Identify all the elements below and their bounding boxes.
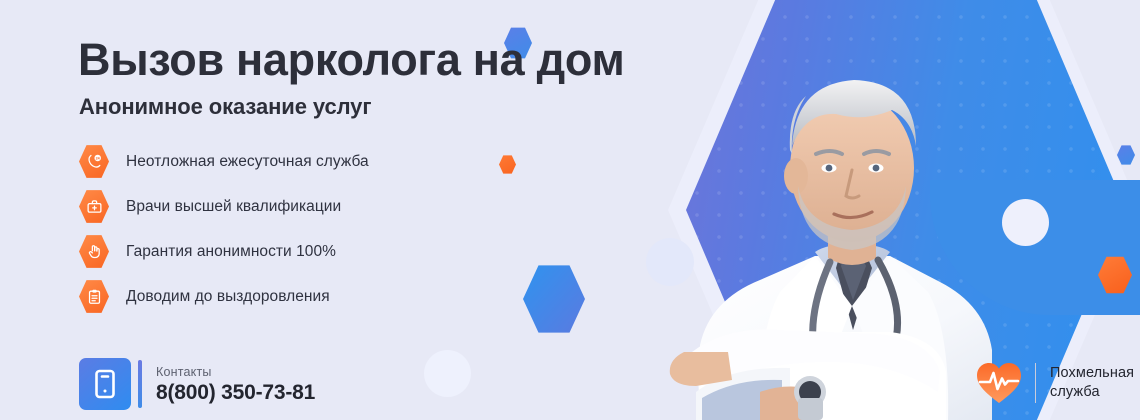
logo-text-line1: Похмельная bbox=[1050, 364, 1134, 383]
promo-banner: Вызов нарколога на дом Анонимное оказани… bbox=[0, 0, 1140, 420]
medical-bag-icon bbox=[79, 190, 109, 224]
contact-divider bbox=[138, 360, 142, 408]
list-item: Врачи высшей квалификации bbox=[79, 185, 369, 228]
list-item: Гарантия анонимности 100% bbox=[79, 230, 369, 273]
feature-list: 24 Неотложная ежесуточная служба Врачи в… bbox=[79, 140, 369, 320]
page-subtitle: Анонимное оказание услуг bbox=[79, 94, 371, 120]
heart-pulse-icon bbox=[975, 360, 1023, 405]
list-item-label: Доводим до выздоровления bbox=[126, 288, 330, 306]
contact-label: Контакты bbox=[156, 364, 315, 380]
contact-block: Контакты 8(800) 350-73-81 bbox=[79, 358, 315, 410]
decorative-circle bbox=[424, 350, 471, 397]
list-item: 24 Неотложная ежесуточная служба bbox=[79, 140, 369, 183]
list-item-label: Неотложная ежесуточная служба bbox=[126, 153, 369, 171]
page-title: Вызов нарколога на дом bbox=[78, 34, 624, 86]
contact-phone-number[interactable]: 8(800) 350-73-81 bbox=[156, 380, 315, 405]
hexagon-accent-blue-large bbox=[523, 264, 585, 334]
list-item: Доводим до выздоровления bbox=[79, 275, 369, 318]
logo-text-line2: служба bbox=[1050, 383, 1134, 402]
hexagon-accent-blue-small bbox=[1117, 145, 1135, 165]
brand-logo[interactable]: Похмельная служба bbox=[975, 360, 1134, 405]
hexagon-accent-orange-small bbox=[499, 155, 516, 174]
clipboard-checklist-icon bbox=[79, 280, 109, 314]
doctor-photo bbox=[640, 0, 1060, 420]
logo-divider bbox=[1035, 363, 1036, 403]
list-item-label: Врачи высшей квалификации bbox=[126, 198, 341, 216]
hexagon-accent-orange-medium bbox=[1098, 256, 1132, 294]
mobile-phone-icon bbox=[79, 358, 131, 410]
phone-24h-icon: 24 bbox=[79, 145, 109, 179]
list-item-label: Гарантия анонимности 100% bbox=[126, 243, 336, 261]
hand-stop-icon bbox=[79, 235, 109, 269]
